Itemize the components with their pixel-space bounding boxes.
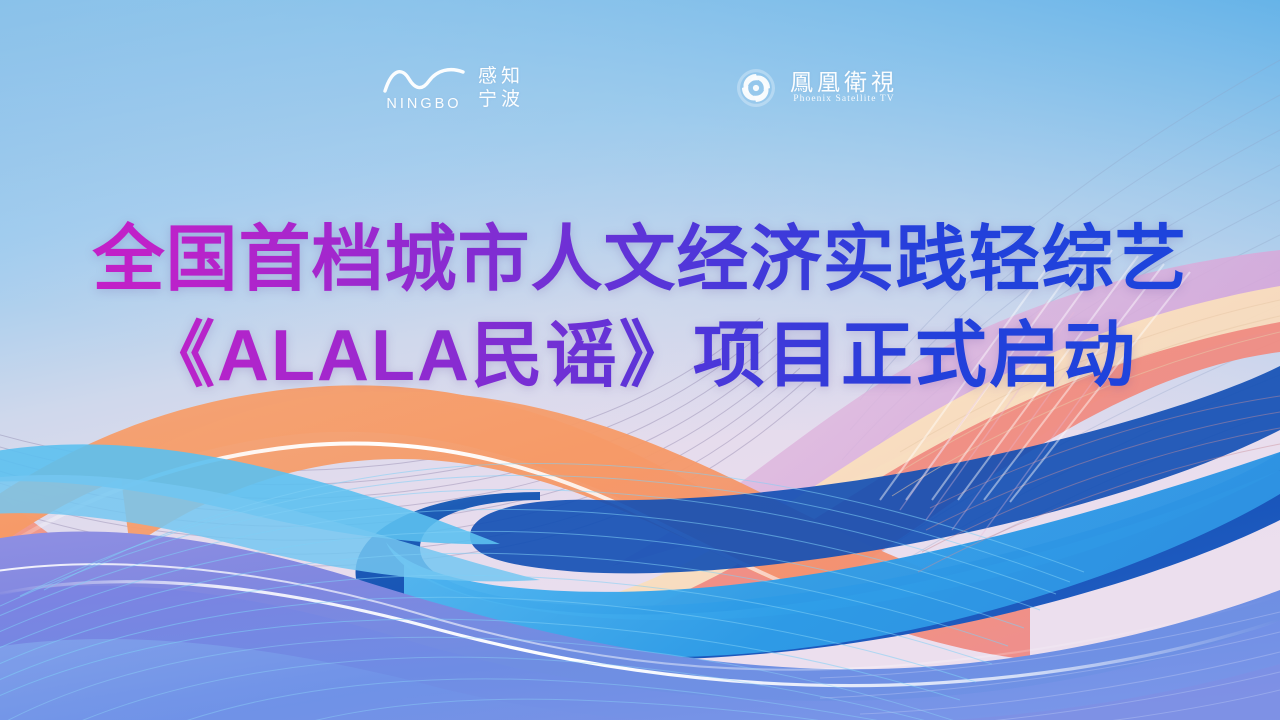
headline-line-2: 《ALALA民谣》项目正式启动 — [0, 308, 1280, 404]
headline-line-1: 全国首档城市人文经济实践轻综艺 — [0, 212, 1280, 308]
ningbo-mark: NINGBO — [382, 65, 466, 112]
ningbo-chinese-line2: 宁波 — [478, 90, 524, 110]
phoenix-english: Phoenix Satellite TV — [793, 95, 895, 105]
ningbo-chinese: 感知 宁波 — [478, 67, 524, 110]
logo-bar: NINGBO 感知 宁波 鳳凰衛視 Phoenix Satel — [0, 56, 1280, 120]
phoenix-chinese: 鳳凰衛視 — [790, 71, 898, 94]
ningbo-logo[interactable]: NINGBO 感知 宁波 — [382, 65, 524, 112]
keyvisual-canvas: NINGBO 感知 宁波 鳳凰衛視 Phoenix Satel — [0, 0, 1280, 720]
ningbo-wordmark: NINGBO — [386, 97, 461, 112]
phoenix-tv-logo[interactable]: 鳳凰衛視 Phoenix Satellite TV — [734, 66, 898, 110]
wave-n-icon — [382, 65, 466, 95]
headline-block: 全国首档城市人文经济实践轻综艺 《ALALA民谣》项目正式启动 — [0, 212, 1280, 404]
ningbo-chinese-line1: 感知 — [478, 67, 524, 87]
phoenix-vortex-icon — [734, 66, 778, 110]
phoenix-text: 鳳凰衛視 Phoenix Satellite TV — [790, 71, 898, 105]
